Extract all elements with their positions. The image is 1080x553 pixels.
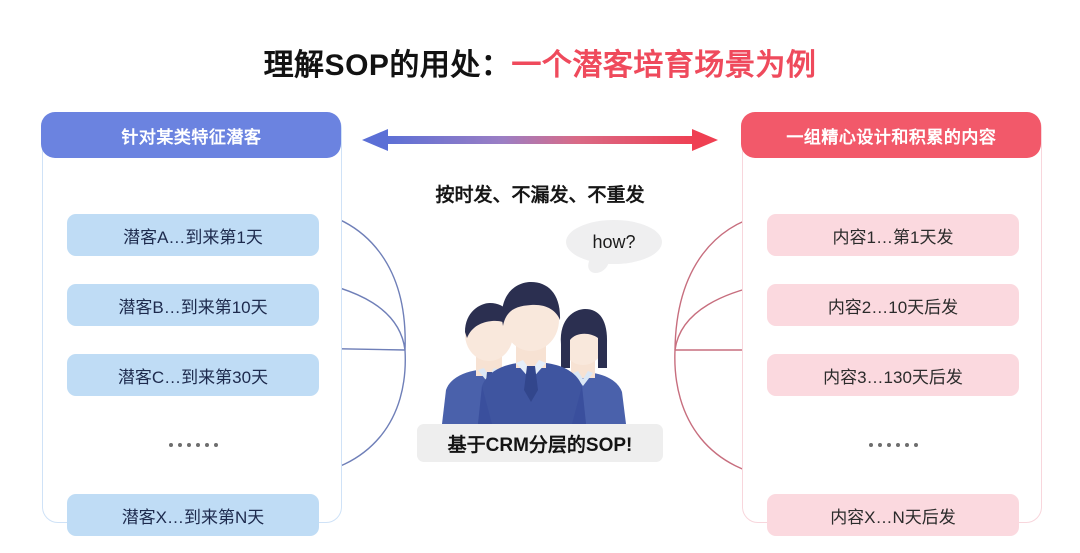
right-panel-item-list: 内容1…第1天发内容2…10天后发内容3…130天后发内容X…N天后发 xyxy=(743,160,1043,524)
lead-segment-item[interactable]: 潜客B…到来第10天 xyxy=(67,284,319,326)
lead-segment-item[interactable]: 潜客X…到来第N天 xyxy=(67,494,319,536)
lead-segment-item[interactable]: 潜客A…到来第1天 xyxy=(67,214,319,256)
left-panel: 针对某类特征潜客 潜客A…到来第1天潜客B…到来第10天潜客C…到来第30天潜客… xyxy=(42,113,342,523)
right-panel: 一组精心设计和积累的内容 内容1…第1天发内容2…10天后发内容3…130天后发… xyxy=(742,113,1042,523)
page-title-main: 理解SOP的用处： xyxy=(264,49,512,82)
content-piece-item[interactable]: 内容X…N天后发 xyxy=(767,494,1019,536)
content-piece-item[interactable]: 内容3…130天后发 xyxy=(767,354,1019,396)
left-panel-header: 针对某类特征潜客 xyxy=(41,112,341,158)
how-speech-bubble: how? xyxy=(566,220,662,264)
arrow-head-left xyxy=(362,129,388,151)
crm-sop-badge: 基于CRM分层的SOP! xyxy=(417,424,663,462)
diagram-canvas: 理解SOP的用处：一个潜客培育场景为例 xyxy=(0,0,1080,553)
double-headed-gradient-arrow xyxy=(362,126,718,156)
arrow-head-right xyxy=(692,129,718,151)
lead-segment-ellipsis xyxy=(67,424,319,466)
right-panel-header: 一组精心设计和积累的内容 xyxy=(741,112,1041,158)
center-caption: 按时发、不漏发、不重发 xyxy=(362,180,718,207)
content-piece-item[interactable]: 内容1…第1天发 xyxy=(767,214,1019,256)
left-panel-item-list: 潜客A…到来第1天潜客B…到来第10天潜客C…到来第30天潜客X…到来第N天 xyxy=(43,160,343,524)
three-business-people-illustration xyxy=(430,272,640,424)
lead-segment-item[interactable]: 潜客C…到来第30天 xyxy=(67,354,319,396)
speech-bubble-label: how? xyxy=(566,220,662,264)
page-title: 理解SOP的用处：一个潜客培育场景为例 xyxy=(0,40,1080,84)
content-piece-item[interactable]: 内容2…10天后发 xyxy=(767,284,1019,326)
page-title-accent: 一个潜客培育场景为例 xyxy=(511,49,816,82)
content-piece-ellipsis xyxy=(767,424,1019,466)
